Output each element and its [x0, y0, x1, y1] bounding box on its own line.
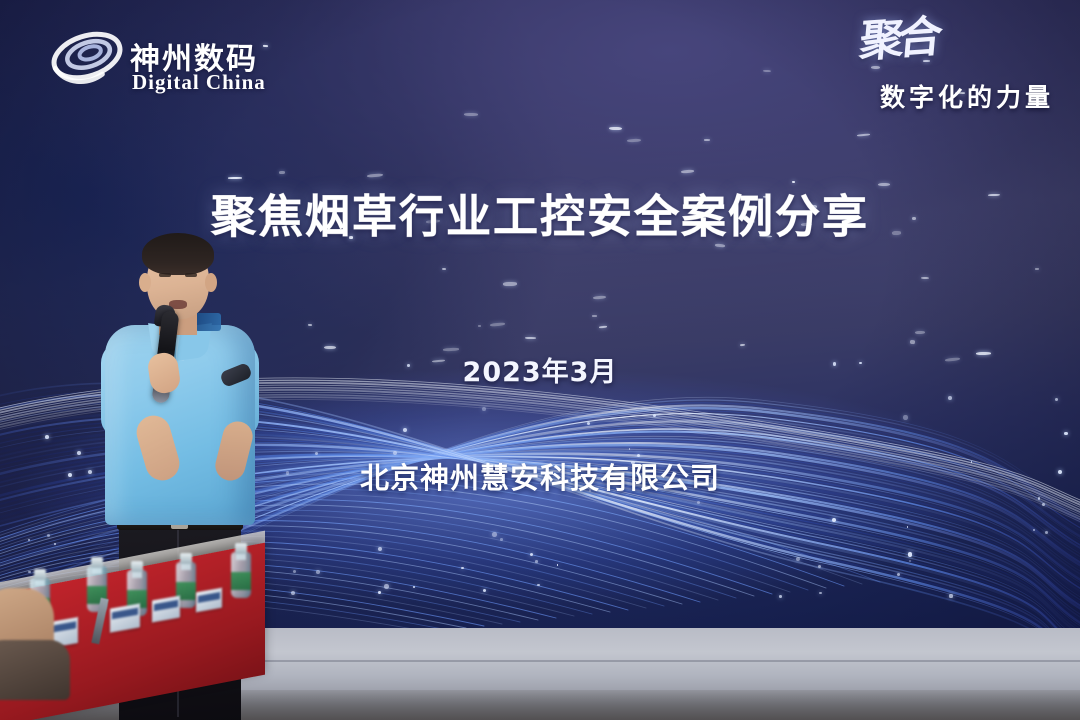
name-card-text-bar — [154, 600, 178, 611]
star-particle — [704, 139, 710, 141]
ear-right — [205, 273, 217, 292]
wave-sparkle — [384, 584, 389, 589]
eye-left — [159, 273, 171, 277]
wave-sparkle — [907, 526, 909, 528]
bottle-label — [231, 572, 251, 590]
wave-sparkle — [796, 557, 800, 561]
ear-left — [139, 273, 151, 292]
swirl-spiral-logo-icon — [48, 22, 126, 90]
wave-sparkle — [949, 594, 952, 597]
wave-sparkle — [500, 538, 503, 541]
eye-right — [185, 273, 197, 277]
bottle-cap — [180, 553, 192, 564]
event-calligraphy: 聚合 — [858, 17, 938, 62]
wave-sparkle — [818, 565, 821, 568]
brand-logo: 神州数码 Digital China — [48, 18, 318, 94]
wave-sparkle — [378, 591, 381, 594]
wave-sparkle — [461, 567, 464, 570]
bottle-cap — [235, 543, 247, 554]
bottle-cap — [91, 557, 103, 568]
wave-sparkle — [47, 534, 50, 537]
wave-sparkle — [908, 552, 912, 556]
wave-sparkle — [54, 543, 56, 545]
wave-sparkle — [832, 518, 836, 522]
star-particle — [478, 325, 481, 327]
wave-sparkle — [697, 501, 700, 504]
wave-sparkle — [948, 396, 952, 400]
wave-sparkle — [482, 407, 486, 411]
wave-sparkle — [483, 589, 486, 592]
star-particle — [228, 177, 242, 179]
foreground-attendee-body — [0, 640, 70, 700]
star-particle — [464, 113, 478, 116]
bottle-cap — [34, 569, 46, 580]
wave-sparkle — [378, 547, 382, 551]
conference-stage-photo: 聚焦烟草行业工控安全案例分享 2023年3月 北京神州慧安科技有限公司 神州数码… — [0, 0, 1080, 720]
wave-sparkle — [45, 435, 49, 439]
star-particle — [279, 171, 285, 174]
wave-sparkle — [903, 415, 907, 419]
wave-sparkle — [1064, 432, 1068, 436]
chest-logo-badge — [195, 313, 221, 331]
event-subtitle: 数字化的力量 — [880, 78, 1054, 114]
event-mark: 聚合 数字化的力量 — [804, 18, 1054, 110]
wave-sparkle — [653, 414, 656, 417]
bottle-cap — [131, 561, 143, 572]
star-particle — [592, 315, 597, 317]
wave-sparkle — [492, 532, 497, 537]
speaker-hair — [142, 233, 214, 275]
star-particle — [503, 282, 517, 286]
wave-sparkle — [1045, 531, 1048, 534]
name-card-text-bar — [112, 608, 138, 620]
water-bottle — [231, 552, 251, 598]
name-card-text-bar — [198, 592, 220, 603]
brand-name-en: Digital China — [132, 70, 266, 95]
